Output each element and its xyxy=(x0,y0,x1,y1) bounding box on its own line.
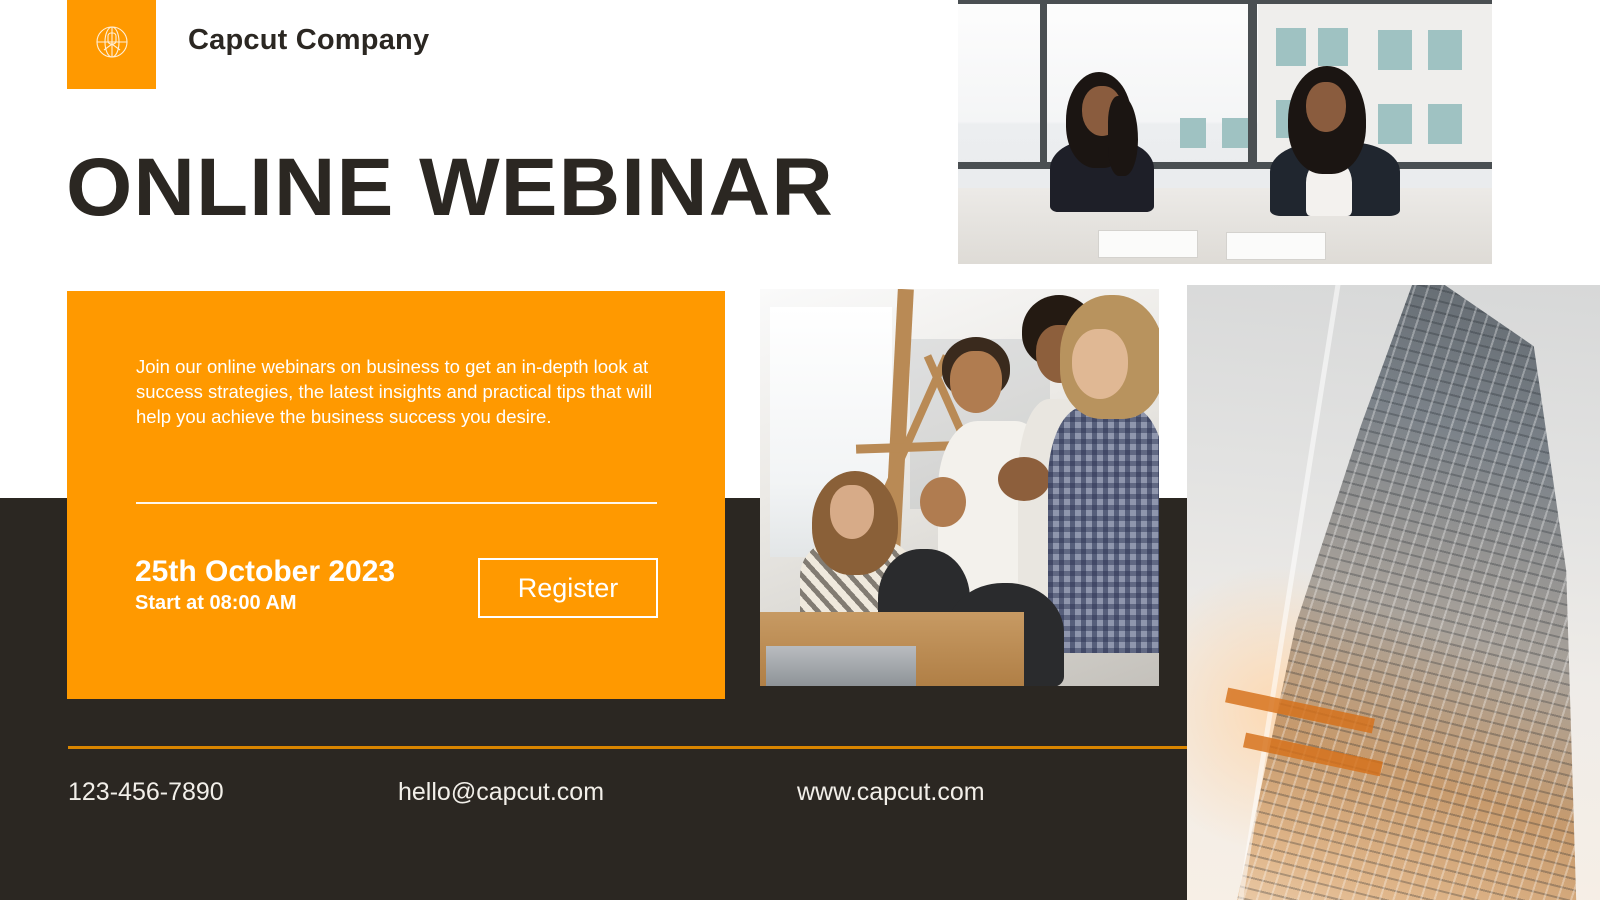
globe-icon xyxy=(90,20,134,69)
logo-badge xyxy=(67,0,156,89)
register-button[interactable]: Register xyxy=(478,558,658,618)
company-name: Capcut Company xyxy=(188,24,429,57)
event-info-card: Join our online webinars on business to … xyxy=(67,291,725,699)
meeting-photo xyxy=(958,0,1492,264)
footer-contact-row: 123-456-7890 hello@capcut.com www.capcut… xyxy=(0,778,1187,812)
footer-divider xyxy=(68,746,1187,749)
event-time: Start at 08:00 AM xyxy=(135,592,297,615)
page-title: ONLINE WEBINAR xyxy=(66,147,834,229)
event-date: 25th October 2023 xyxy=(135,555,395,589)
team-photo xyxy=(760,289,1159,686)
card-divider xyxy=(136,502,657,504)
contact-email[interactable]: hello@capcut.com xyxy=(398,778,604,807)
skyscraper-photo xyxy=(1187,285,1600,900)
contact-website[interactable]: www.capcut.com xyxy=(797,778,985,807)
contact-phone[interactable]: 123-456-7890 xyxy=(68,778,224,807)
card-paragraph: Join our online webinars on business to … xyxy=(136,354,666,429)
